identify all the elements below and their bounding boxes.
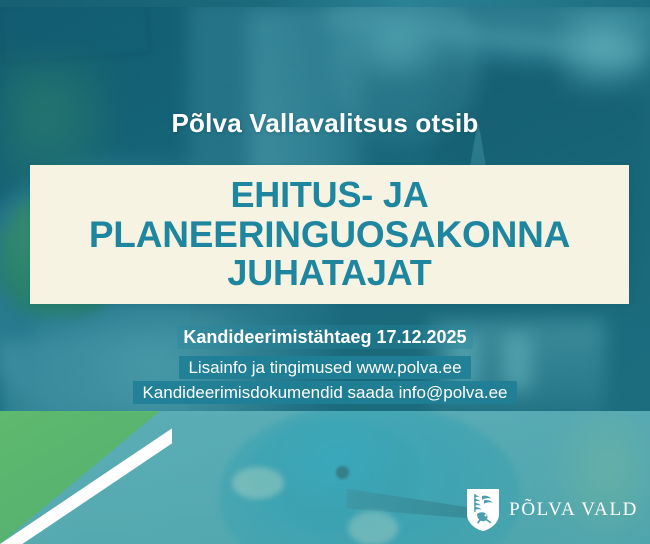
polva-coat-of-arms-shield-icon — [466, 488, 500, 532]
job-advertisement-poster: PÕLVA VALD Põlva Vallavalitsus otsib EHI… — [0, 0, 650, 544]
info-website-line: Lisainfo ja tingimused www.polva.ee — [179, 356, 470, 379]
deadline-row: Kandideerimistähtaeg 17.12.2025 — [0, 327, 650, 348]
bottom-photo-section: PÕLVA VALD — [0, 411, 650, 544]
info-row-2: Kandideerimisdokumendid saada info@polva… — [0, 381, 650, 406]
info-block: Lisainfo ja tingimused www.polva.ee Kand… — [0, 356, 650, 405]
info-email-line: Kandideerimisdokumendid saada info@polva… — [133, 381, 516, 404]
headline-line-2: PLANEERINGUOSAKONNA — [89, 215, 570, 255]
headline-line-1: EHITUS- JA — [89, 176, 570, 215]
polva-vald-logo: PÕLVA VALD — [466, 488, 638, 532]
headline-line-3: JUHATAJAT — [89, 254, 570, 293]
page-title: EHITUS- JA PLANEERINGUOSAKONNA JUHATAJAT — [81, 176, 578, 293]
info-row-1: Lisainfo ja tingimused www.polva.ee — [0, 356, 650, 381]
top-edge-strip — [0, 0, 650, 7]
headline-box: EHITUS- JA PLANEERINGUOSAKONNA JUHATAJAT — [30, 165, 629, 304]
logo-text: PÕLVA VALD — [509, 499, 638, 521]
application-deadline: Kandideerimistähtaeg 17.12.2025 — [177, 325, 472, 349]
poster-eyebrow-title: Põlva Vallavalitsus otsib — [0, 108, 650, 139]
